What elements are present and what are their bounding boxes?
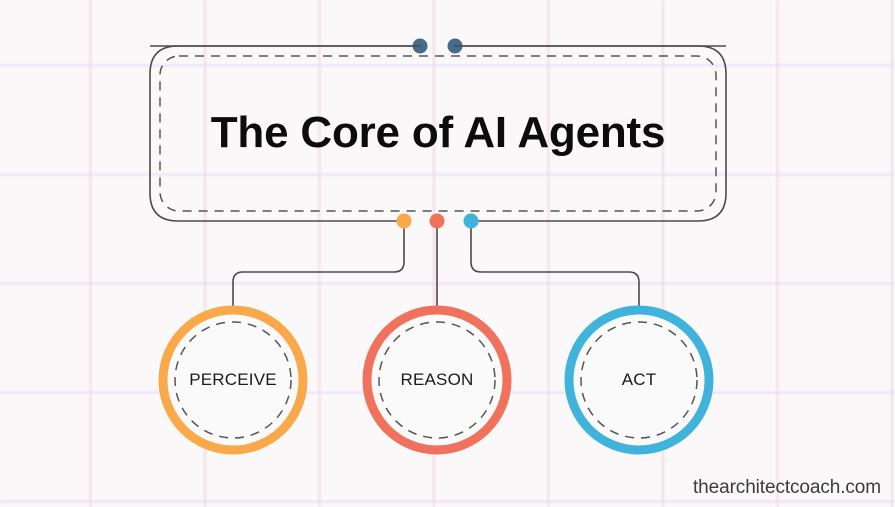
node-perceive-label: PERCEIVE	[158, 305, 308, 455]
connector-act	[471, 221, 639, 308]
watermark: thearchitectcoach.com	[693, 477, 881, 499]
diagram-canvas: The Core of AI Agents PERCEIVE REASON AC…	[0, 0, 895, 507]
node-act-label: ACT	[564, 305, 714, 455]
connector-perceive	[233, 221, 404, 308]
node-reason-label: REASON	[362, 305, 512, 455]
page-title: The Core of AI Agents	[150, 45, 726, 221]
connectors	[233, 221, 639, 310]
